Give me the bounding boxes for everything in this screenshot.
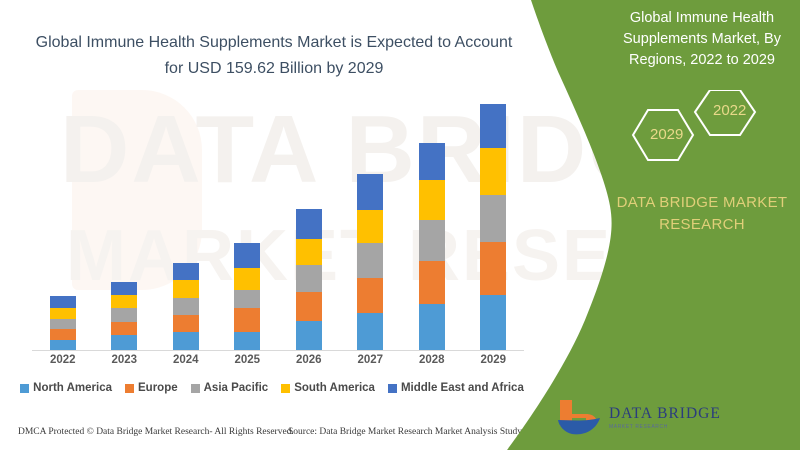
hexagon-badges: 2029 2022 bbox=[620, 90, 790, 180]
logo-mark-icon bbox=[556, 398, 602, 438]
panel-title: Global Immune Health Supplements Market,… bbox=[612, 8, 792, 71]
logo-tagline: MARKET RESEARCH bbox=[609, 425, 721, 430]
panel-brand-line-2: RESEARCH bbox=[606, 214, 798, 236]
panel-brand-line-1: DATA BRIDGE MARKET bbox=[606, 192, 798, 214]
hexagon-label-2029: 2029 bbox=[650, 126, 683, 143]
panel-brand: DATA BRIDGE MARKET RESEARCH bbox=[606, 192, 798, 236]
logo-text: DATA BRIDGE MARKET RESEARCH bbox=[609, 406, 721, 430]
logo-name: DATA BRIDGE bbox=[609, 406, 721, 422]
infographic-canvas: DATA BRIDGE MARKET RESEARCH Global Immun… bbox=[0, 0, 800, 450]
data-bridge-logo: DATA BRIDGE MARKET RESEARCH bbox=[556, 396, 736, 440]
hexagon-label-2022: 2022 bbox=[713, 102, 746, 119]
